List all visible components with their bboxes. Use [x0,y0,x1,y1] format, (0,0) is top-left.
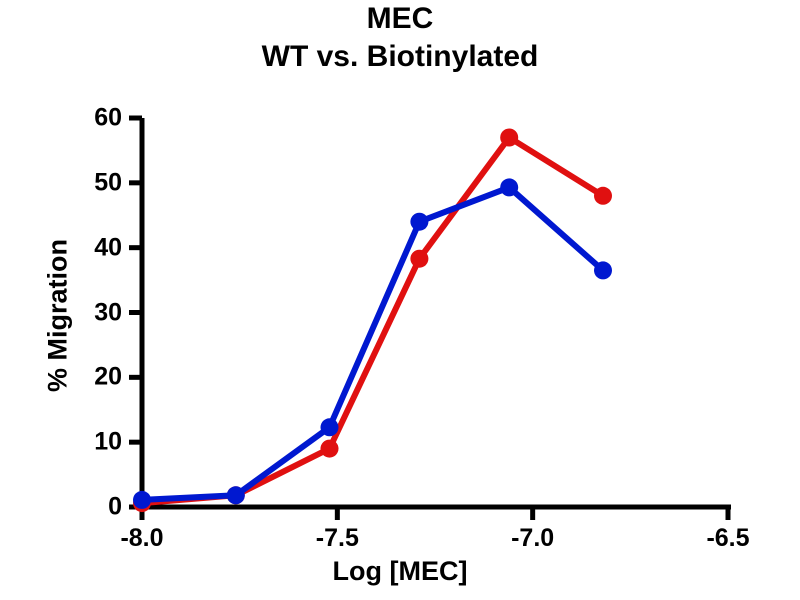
data-point-biotinylated [321,440,339,458]
axis-group [129,118,731,520]
y-axis-label: % Migration [43,196,74,436]
data-point-wt [410,213,428,231]
data-point-biotinylated [594,187,612,205]
data-point-wt [594,261,612,279]
y-tick-label: 50 [42,168,122,197]
x-tick-label: -7.5 [316,524,359,553]
series-group [133,129,612,513]
data-point-wt [227,486,245,504]
series-line-biotinylated [142,138,603,504]
x-tick-label: -6.5 [706,524,749,553]
data-point-biotinylated [410,250,428,268]
data-point-wt [321,418,339,436]
data-point-wt [133,491,151,509]
x-axis-label: Log [MEC] [0,556,800,587]
data-point-wt [500,178,518,196]
data-point-biotinylated [500,129,518,147]
series-line-wt [142,187,603,500]
x-tick-label: -8.0 [120,524,163,553]
y-tick-label: 0 [42,493,122,522]
chart-page: MEC WT vs. Biotinylated -8.0-7.5-7.0-6.5… [0,0,800,600]
x-tick-label: -7.0 [511,524,554,553]
y-tick-label: 60 [42,104,122,133]
